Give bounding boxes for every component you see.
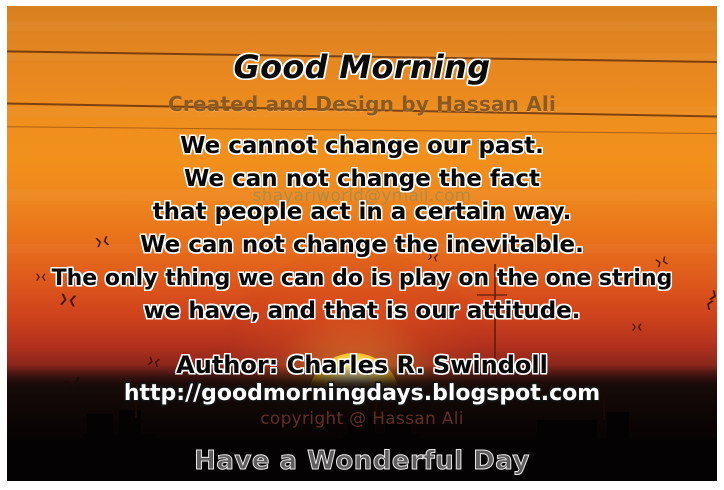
quote-line: The only thing we can do is play on the … [7, 262, 717, 295]
page-title: Good Morning [7, 48, 717, 86]
quote-line: we have, and that is our attitude. [7, 295, 717, 328]
quote-author: Author: Charles R. Swindoll [7, 351, 717, 379]
quote-line: We can not change the inevitable. [7, 229, 717, 262]
greeting-card-poster: ❯❮ ❯❮ ❯❮ ❯❮ ❯❮ ❯❮ ❯❮ ❯❮ ❯❮ ❯❮ Good Morni… [0, 0, 724, 490]
sunset-photograph: ❯❮ ❯❮ ❯❮ ❯❮ ❯❮ ❯❮ ❯❮ ❯❮ ❯❮ ❯❮ Good Morni… [7, 6, 717, 481]
footer-message: Have a Wonderful Day [7, 446, 717, 476]
subtitle-credit: Created and Design by Hassan Ali [7, 92, 717, 116]
text-overlay: Good Morning Created and Design by Hassa… [7, 6, 717, 481]
quote-line: We cannot change our past. [7, 130, 717, 163]
quote-block: We cannot change our past. We can not ch… [7, 130, 717, 328]
blog-url-link[interactable]: http://goodmorningdays.blogspot.com [7, 381, 717, 406]
quote-line: We can not change the fact [7, 163, 717, 196]
watermark-copyright: copyright @ Hassan Ali [7, 409, 717, 429]
quote-line: that people act in a certain way. [7, 196, 717, 229]
